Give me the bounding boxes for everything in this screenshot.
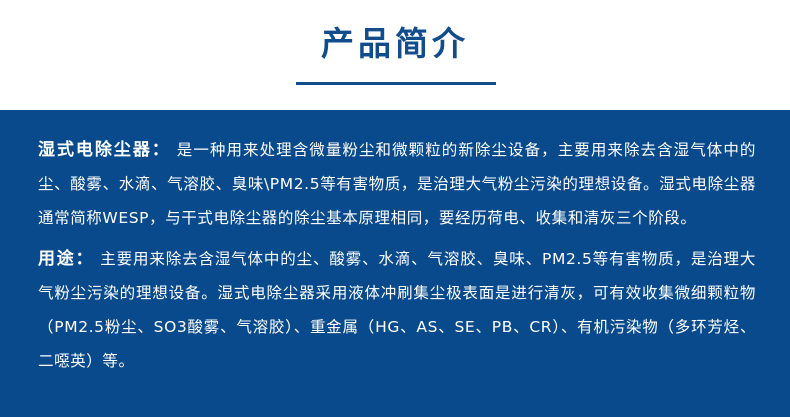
page-title: 产品简介 — [0, 24, 790, 64]
title-underline-divider — [296, 82, 496, 85]
paragraph-usage: 用途：主要用来除去含湿气体中的尘、酸雾、水滴、气溶胶、臭味、PM2.5等有害物质… — [38, 242, 756, 378]
paragraph-lead-label: 湿式电除尘器： — [38, 140, 177, 160]
page-header: 产品简介 — [0, 0, 790, 110]
paragraph-body-text: 主要用来除去含湿气体中的尘、酸雾、水滴、气溶胶、臭味、PM2.5等有害物质，是治… — [38, 250, 756, 370]
paragraph-product-description: 湿式电除尘器：是一种用来处理含微量粉尘和微颗粒的新除尘设备，主要用来除去含湿气体… — [38, 133, 756, 235]
product-intro-page: 产品简介 湿式电除尘器：是一种用来处理含微量粉尘和微颗粒的新除尘设备，主要用来除… — [0, 0, 790, 417]
paragraph-lead-label: 用途： — [38, 249, 100, 269]
intro-content-panel: 湿式电除尘器：是一种用来处理含微量粉尘和微颗粒的新除尘设备，主要用来除去含湿气体… — [0, 110, 790, 417]
